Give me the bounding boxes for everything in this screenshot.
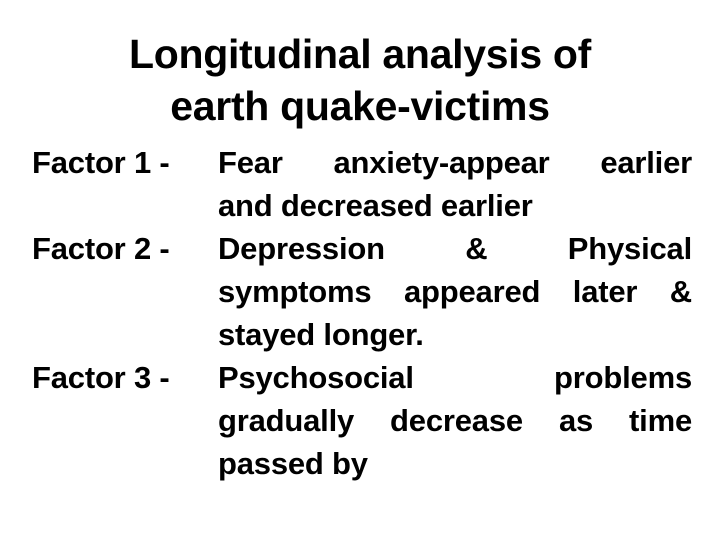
list-item: Factor 2 - Depression & Physical symptom… [32,227,692,356]
list-item: Factor 1 - Fear anxiety-appear earlier a… [32,141,692,227]
factor-1-label: Factor 1 - [32,141,218,184]
factor-1-text: Fear anxiety-appear earlier and decrease… [218,141,692,227]
factor-2-label: Factor 2 - [32,227,218,270]
factor-2-text: Depression & Physical symptoms appeared … [218,227,692,356]
factor-1-line-2: and decreased earlier [218,184,692,227]
page-title: Longitudinal analysis of earth quake-vic… [0,28,720,132]
factor-2-line-3: stayed longer. [218,313,692,356]
factor-3-line-1: Psychosocial problems [218,356,692,399]
page-title-line-1: Longitudinal analysis of [0,28,720,80]
factor-3-label: Factor 3 - [32,356,218,399]
factor-3-line-2: gradually decrease as time [218,399,692,442]
factor-2-line-1: Depression & Physical [218,227,692,270]
factor-list: Factor 1 - Fear anxiety-appear earlier a… [32,141,692,485]
factor-3-text: Psychosocial problems gradually decrease… [218,356,692,485]
factor-3-line-3: passed by [218,442,692,485]
factor-2-line-2: symptoms appeared later & [218,270,692,313]
factor-1-line-1: Fear anxiety-appear earlier [218,141,692,184]
slide-canvas: Longitudinal analysis of earth quake-vic… [0,0,720,540]
list-item: Factor 3 - Psychosocial problems gradual… [32,356,692,485]
page-title-line-2: earth quake-victims [0,80,720,132]
